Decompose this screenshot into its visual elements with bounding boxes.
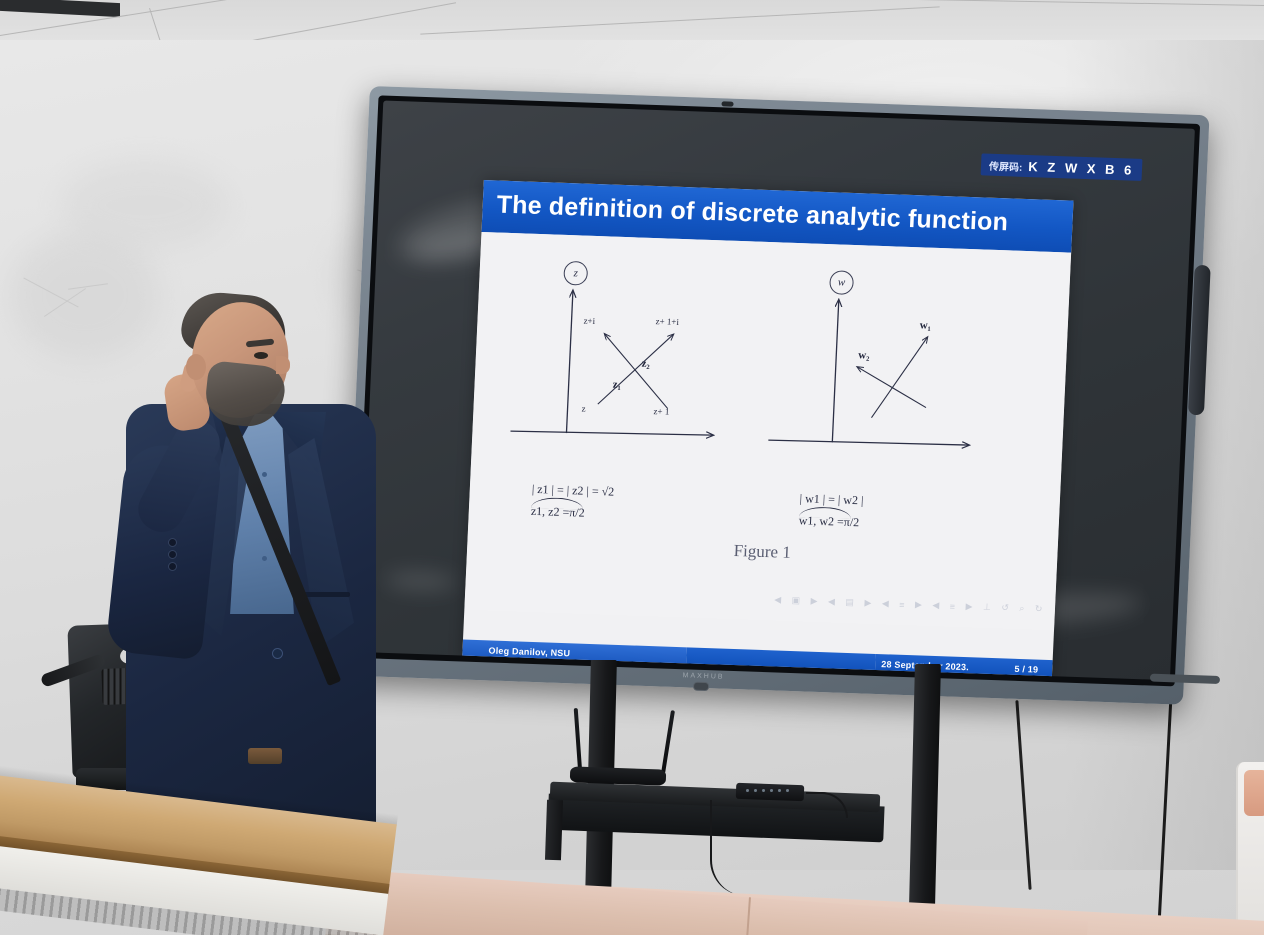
figure-caption: Figure 1 bbox=[467, 532, 1058, 573]
w-angle-equation: w1, w2 =π/2 bbox=[798, 513, 859, 530]
nav-search-icon[interactable]: ⌕ bbox=[1019, 603, 1025, 614]
z-angle-equation: z1, z2 =π/2 bbox=[531, 504, 585, 521]
screencast-code-value: K Z W X B 6 bbox=[1028, 159, 1135, 178]
nav-frame-icon[interactable]: ▤ bbox=[845, 597, 855, 608]
nav-section-icon[interactable]: ▶ bbox=[965, 601, 973, 612]
switch-led-icon bbox=[786, 789, 789, 792]
shirt-button bbox=[262, 556, 267, 561]
wireless-router bbox=[570, 766, 666, 785]
w-plane-axes-and-vectors bbox=[760, 262, 1021, 510]
presenter-eye bbox=[254, 352, 268, 359]
z-label-bottom-left: z bbox=[581, 404, 585, 414]
sleeve-button bbox=[168, 562, 177, 571]
w-plane-diagram: w w₁ w₂ bbox=[760, 262, 1021, 510]
nav-subsection-icon[interactable]: ▶ bbox=[915, 599, 923, 610]
nav-end-icon[interactable]: ⊥ bbox=[983, 602, 992, 613]
display-camera-icon bbox=[721, 101, 733, 106]
switch-led-icon bbox=[778, 789, 781, 792]
display-panel[interactable]: 传屏码: K Z W X B 6 The definition of discr… bbox=[358, 100, 1195, 680]
angle-arc-icon bbox=[799, 506, 851, 519]
sleeve-button bbox=[168, 538, 177, 547]
presentation-slide[interactable]: The definition of discrete analytic func… bbox=[462, 180, 1073, 680]
nav-frame-icon[interactable]: ◀ bbox=[828, 596, 836, 607]
z-vector2-label: z₂ bbox=[641, 358, 650, 370]
jacket-button bbox=[272, 648, 283, 659]
z-vector1-label: z₁ bbox=[612, 379, 621, 391]
screen-reflection bbox=[385, 571, 456, 591]
presenter-ear bbox=[186, 354, 206, 380]
router-antenna bbox=[661, 710, 675, 774]
wall-smudge bbox=[60, 160, 230, 250]
z-magnitude-equation: | z1 | = | z2 | = √2 bbox=[532, 482, 615, 500]
switch-led-icon bbox=[754, 789, 757, 792]
nav-frame-icon[interactable]: ▶ bbox=[864, 598, 872, 609]
z-plane-diagram: z bbox=[498, 253, 759, 501]
right-wall-panel bbox=[1236, 762, 1264, 935]
interactive-display[interactable]: 传屏码: K Z W X B 6 The definition of discr… bbox=[343, 86, 1209, 705]
wall-object bbox=[1244, 770, 1264, 816]
nav-subsection-icon[interactable]: ◀ bbox=[882, 598, 890, 609]
nav-section-icon[interactable]: ≡ bbox=[950, 601, 956, 611]
screencast-code-badge: 传屏码: K Z W X B 6 bbox=[981, 153, 1143, 181]
z-plane-axes-and-vectors bbox=[498, 253, 759, 501]
presenter-belt bbox=[248, 748, 282, 764]
nav-subsection-icon[interactable]: ≡ bbox=[899, 599, 905, 609]
ceiling-dark-recess bbox=[0, 0, 120, 17]
screencast-code-label: 传屏码: bbox=[989, 157, 1023, 173]
switch-led-icon bbox=[770, 789, 773, 792]
presenter-nose bbox=[276, 356, 290, 374]
network-cable bbox=[710, 800, 746, 896]
nav-slide-icon[interactable]: ◀ bbox=[774, 594, 782, 605]
w-magnitude-equation: | w1 | = | w2 | bbox=[799, 491, 863, 508]
slide-footer-author: Oleg Danilov, NSU bbox=[488, 645, 570, 658]
beamer-navigation-symbols[interactable]: ◀ ▣ ▶ ◀ ▤ ▶ ◀ ≡ ▶ ◀ ≡ ▶ ⊥ bbox=[774, 594, 1043, 614]
slide-footer-page: 5 / 19 bbox=[1014, 664, 1038, 675]
w-vector1-label: w₁ bbox=[919, 319, 931, 331]
slide-body: z bbox=[464, 232, 1071, 630]
ceiling-grid-line bbox=[900, 0, 1264, 7]
shirt-button bbox=[262, 472, 267, 477]
network-switch bbox=[736, 783, 805, 801]
ceiling-grid-line bbox=[420, 6, 939, 35]
router-antenna bbox=[574, 708, 583, 774]
display-bezel: 传屏码: K Z W X B 6 The definition of discr… bbox=[343, 86, 1209, 705]
z-label-top-left: z+i bbox=[583, 316, 595, 326]
stand-leg bbox=[909, 664, 941, 906]
nav-back-icon[interactable]: ↺ bbox=[1001, 602, 1010, 613]
w-vector2-label: w₂ bbox=[858, 349, 870, 361]
switch-led-icon bbox=[762, 789, 765, 792]
stand-foot bbox=[545, 800, 563, 861]
switch-led-icon bbox=[746, 789, 749, 792]
z-label-bottom-right: z+ 1 bbox=[653, 406, 669, 417]
slide-title: The definition of discrete analytic func… bbox=[496, 191, 1063, 240]
z-label-top-right: z+ 1+i bbox=[655, 316, 679, 327]
nav-section-icon[interactable]: ◀ bbox=[932, 600, 940, 611]
angle-arc-icon bbox=[531, 497, 583, 510]
sleeve-button bbox=[168, 550, 177, 559]
nav-slide-icon[interactable]: ▣ bbox=[791, 595, 801, 606]
presenter bbox=[120, 296, 390, 816]
nav-slide-icon[interactable]: ▶ bbox=[810, 596, 818, 607]
display-floor-stand bbox=[560, 660, 980, 910]
nav-forward-icon[interactable]: ↻ bbox=[1035, 604, 1044, 615]
classroom-photo-scene: 传屏码: K Z W X B 6 The definition of discr… bbox=[0, 0, 1264, 935]
